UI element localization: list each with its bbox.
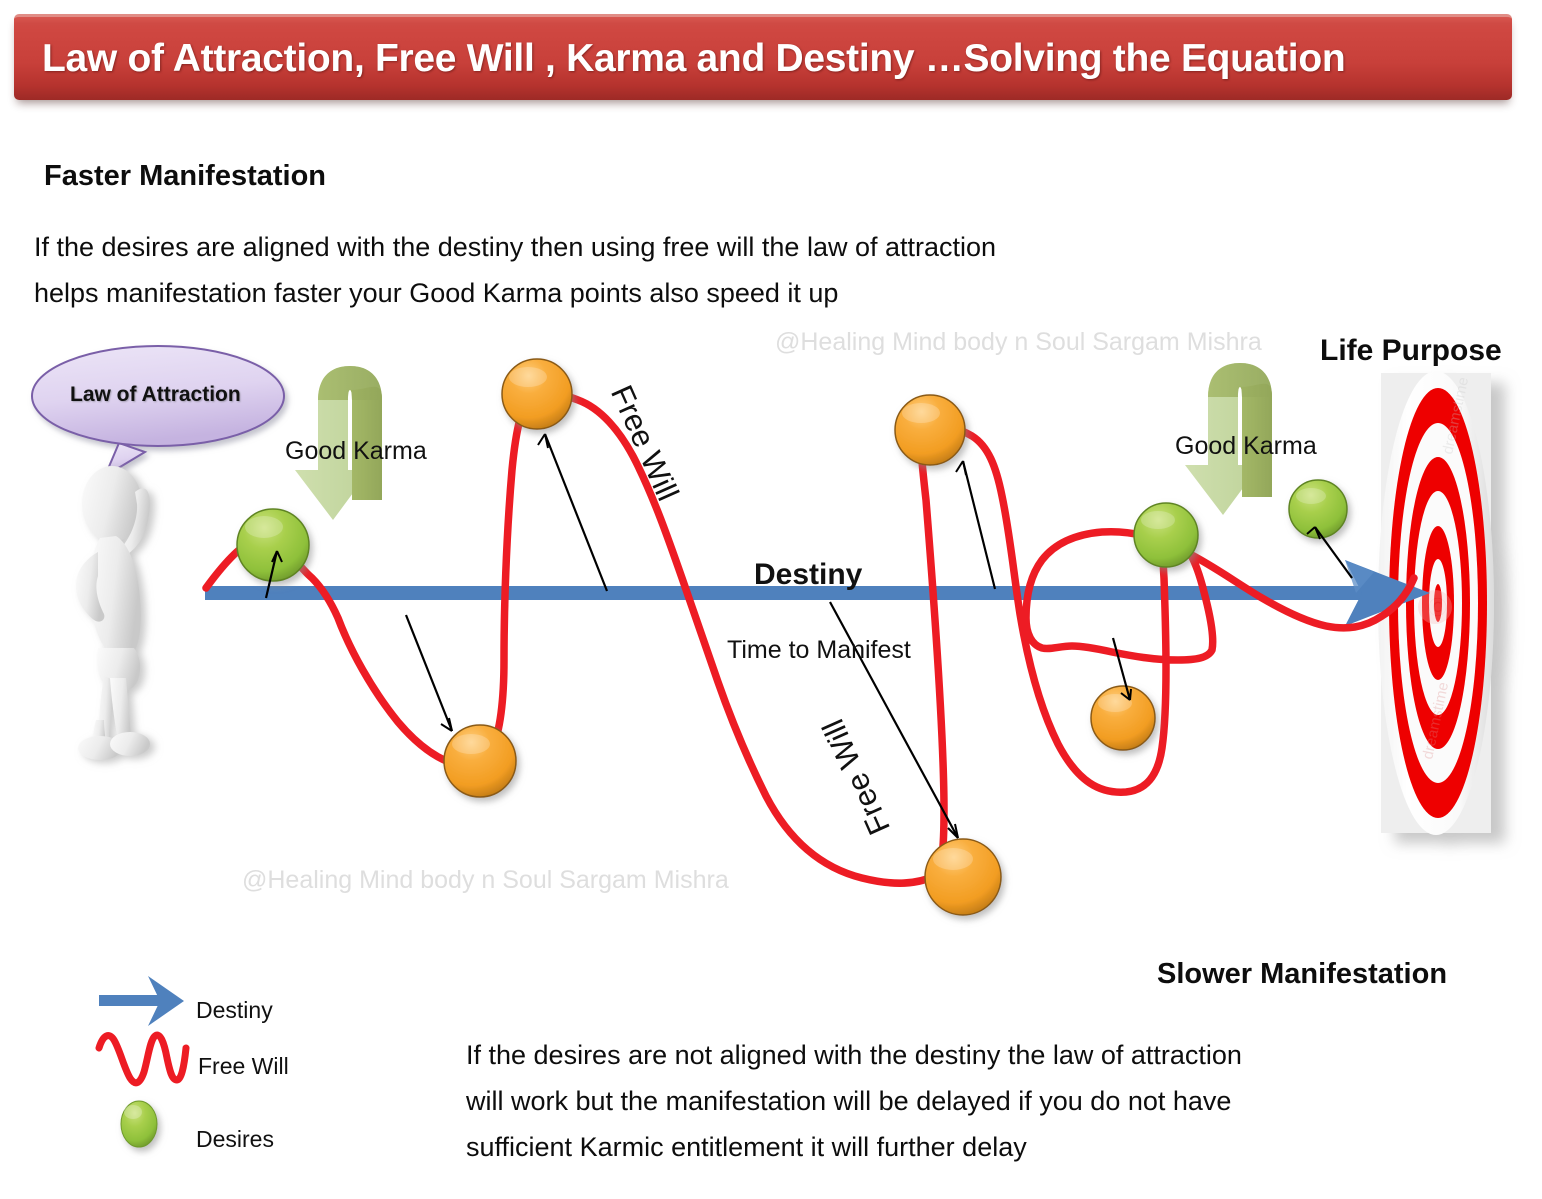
good-karma-label-1: Good Karma <box>285 437 427 466</box>
thinking-person-figure <box>76 466 150 760</box>
sphere-desire-green-2 <box>1134 503 1198 567</box>
law-of-attraction-speech-bubble <box>32 346 284 476</box>
sphere-desire-orange-1 <box>502 359 572 429</box>
sphere-desire-orange-2 <box>444 725 516 797</box>
legend-label-destiny: Destiny <box>196 997 273 1024</box>
legend-free-will-icon <box>99 1035 186 1083</box>
sphere-desire-orange-3 <box>895 395 965 465</box>
sphere-desire-orange-4 <box>925 839 1001 915</box>
svg-text:Ⓒ: Ⓒ <box>1428 597 1447 619</box>
legend-label-free-will: Free Will <box>198 1053 289 1080</box>
destiny-label: Destiny <box>754 558 862 592</box>
legend-desires-icon <box>121 1101 157 1147</box>
legend-destiny-icon <box>99 976 184 1026</box>
speech-bubble-label: Law of Attraction <box>70 383 241 407</box>
legend-label-desires: Desires <box>196 1126 274 1153</box>
good-karma-label-2: Good Karma <box>1175 432 1317 461</box>
slide-canvas: Law of Attraction, Free Will , Karma and… <box>0 0 1542 1199</box>
time-to-manifest-label: Time to Manifest <box>727 636 911 665</box>
